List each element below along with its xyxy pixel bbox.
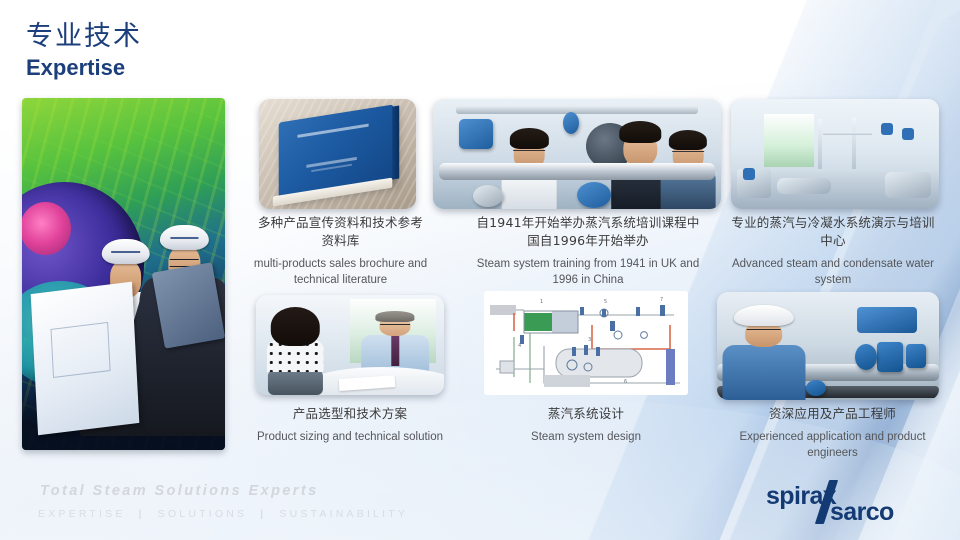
caption-en: multi-products sales brochure and techni… (253, 257, 428, 288)
caption-en: Steam system training from 1941 in UK an… (476, 257, 700, 288)
caption-cn: 专业的蒸汽与冷凝水系统演示与培训中心 (727, 214, 939, 250)
card-image-training (433, 99, 721, 209)
caption-cn: 自1941年开始举办蒸汽系统培训课程中国自1996年开始举办 (476, 214, 700, 250)
page-title-cn: 专业技术 (26, 22, 142, 52)
svg-text:3: 3 (588, 337, 591, 343)
caption-en: Advanced steam and condensate water syst… (727, 257, 939, 288)
caption-en: Steam system design (486, 430, 686, 446)
card-image-brochure (259, 99, 416, 209)
caption-cn: 产品选型和技术方案 (250, 405, 450, 423)
page-title-en: Expertise (26, 54, 142, 82)
footer-pillars: EXPERTISE | SOLUTIONS | SUSTAINABILITY (38, 508, 408, 520)
footer-pillar-sustainability: SUSTAINABILITY (279, 508, 408, 520)
meeting-customer (267, 307, 323, 395)
spirax-sarco-logo: spirax sarco (760, 482, 946, 528)
caption-en: Experienced application and product engi… (725, 430, 940, 461)
steam-system-schematic: 157 436 (484, 291, 688, 395)
hero-photo-engineers (22, 98, 225, 450)
caption-en: Product sizing and technical solution (250, 430, 450, 446)
card-image-center (731, 99, 939, 209)
caption-cn: 多种产品宣传资料和技术参考资料库 (253, 214, 428, 250)
svg-text:7: 7 (660, 297, 663, 303)
slide-canvas: 专业技术 Expertise (0, 0, 960, 540)
footer-tagline: Total Steam Solutions Experts (40, 483, 319, 499)
caption-cn: 蒸汽系统设计 (486, 405, 686, 423)
svg-text:1: 1 (540, 299, 543, 305)
card-caption-design: 蒸汽系统设计 Steam system design (486, 405, 686, 446)
svg-text:4: 4 (518, 343, 521, 349)
caption-cn: 资深应用及产品工程师 (725, 405, 940, 423)
card-image-design: 157 436 (484, 291, 688, 395)
card-caption-sizing: 产品选型和技术方案 Product sizing and technical s… (250, 405, 450, 446)
field-engineer (726, 305, 801, 400)
catalog-book (279, 105, 394, 199)
logo-word-sarco: sarco (830, 498, 894, 527)
svg-text:5: 5 (604, 299, 607, 305)
hero-clipboard (152, 262, 225, 349)
footer-separator-1: | (132, 508, 152, 520)
card-caption-center: 专业的蒸汽与冷凝水系统演示与培训中心 Advanced steam and co… (727, 214, 939, 288)
card-image-engineers (717, 292, 939, 400)
footer-separator-2: | (253, 508, 273, 520)
card-caption-engineers: 资深应用及产品工程师 Experienced application and p… (725, 405, 940, 461)
footer-pillar-solutions: SOLUTIONS (158, 508, 247, 520)
svg-text:6: 6 (624, 379, 627, 385)
page-title: 专业技术 Expertise (26, 22, 142, 82)
card-caption-brochure: 多种产品宣传资料和技术参考资料库 multi-products sales br… (253, 214, 428, 288)
hero-blueprint (31, 282, 139, 435)
footer-pillar-expertise: EXPERTISE (38, 508, 126, 520)
card-image-sizing (256, 295, 444, 395)
card-caption-training: 自1941年开始举办蒸汽系统培训课程中国自1996年开始举办 Steam sys… (476, 214, 700, 288)
